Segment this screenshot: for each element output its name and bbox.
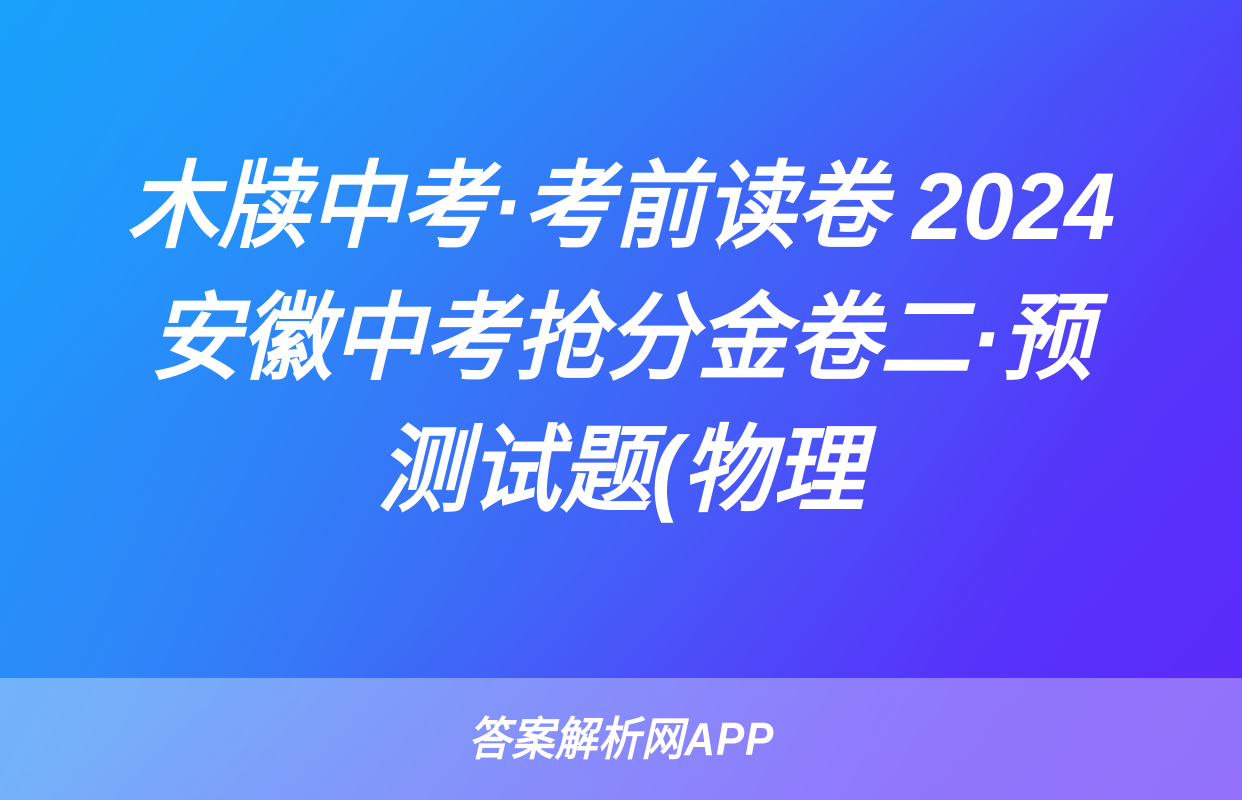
- title-line-2: 安徽中考抢分金卷二·预: [93, 273, 1149, 405]
- title-line-3: 测试题(物理: [93, 405, 1149, 537]
- poster-canvas: 木牍中考·考前读卷 2024 安徽中考抢分金卷二·预 测试题(物理 答案解析网A…: [0, 0, 1242, 800]
- title-block: 木牍中考·考前读卷 2024 安徽中考抢分金卷二·预 测试题(物理: [0, 0, 1242, 678]
- title-line-1: 木牍中考·考前读卷 2024: [93, 141, 1149, 273]
- footer-watermark-band: 答案解析网APP: [0, 678, 1242, 800]
- footer-watermark-text: 答案解析网APP: [468, 713, 774, 765]
